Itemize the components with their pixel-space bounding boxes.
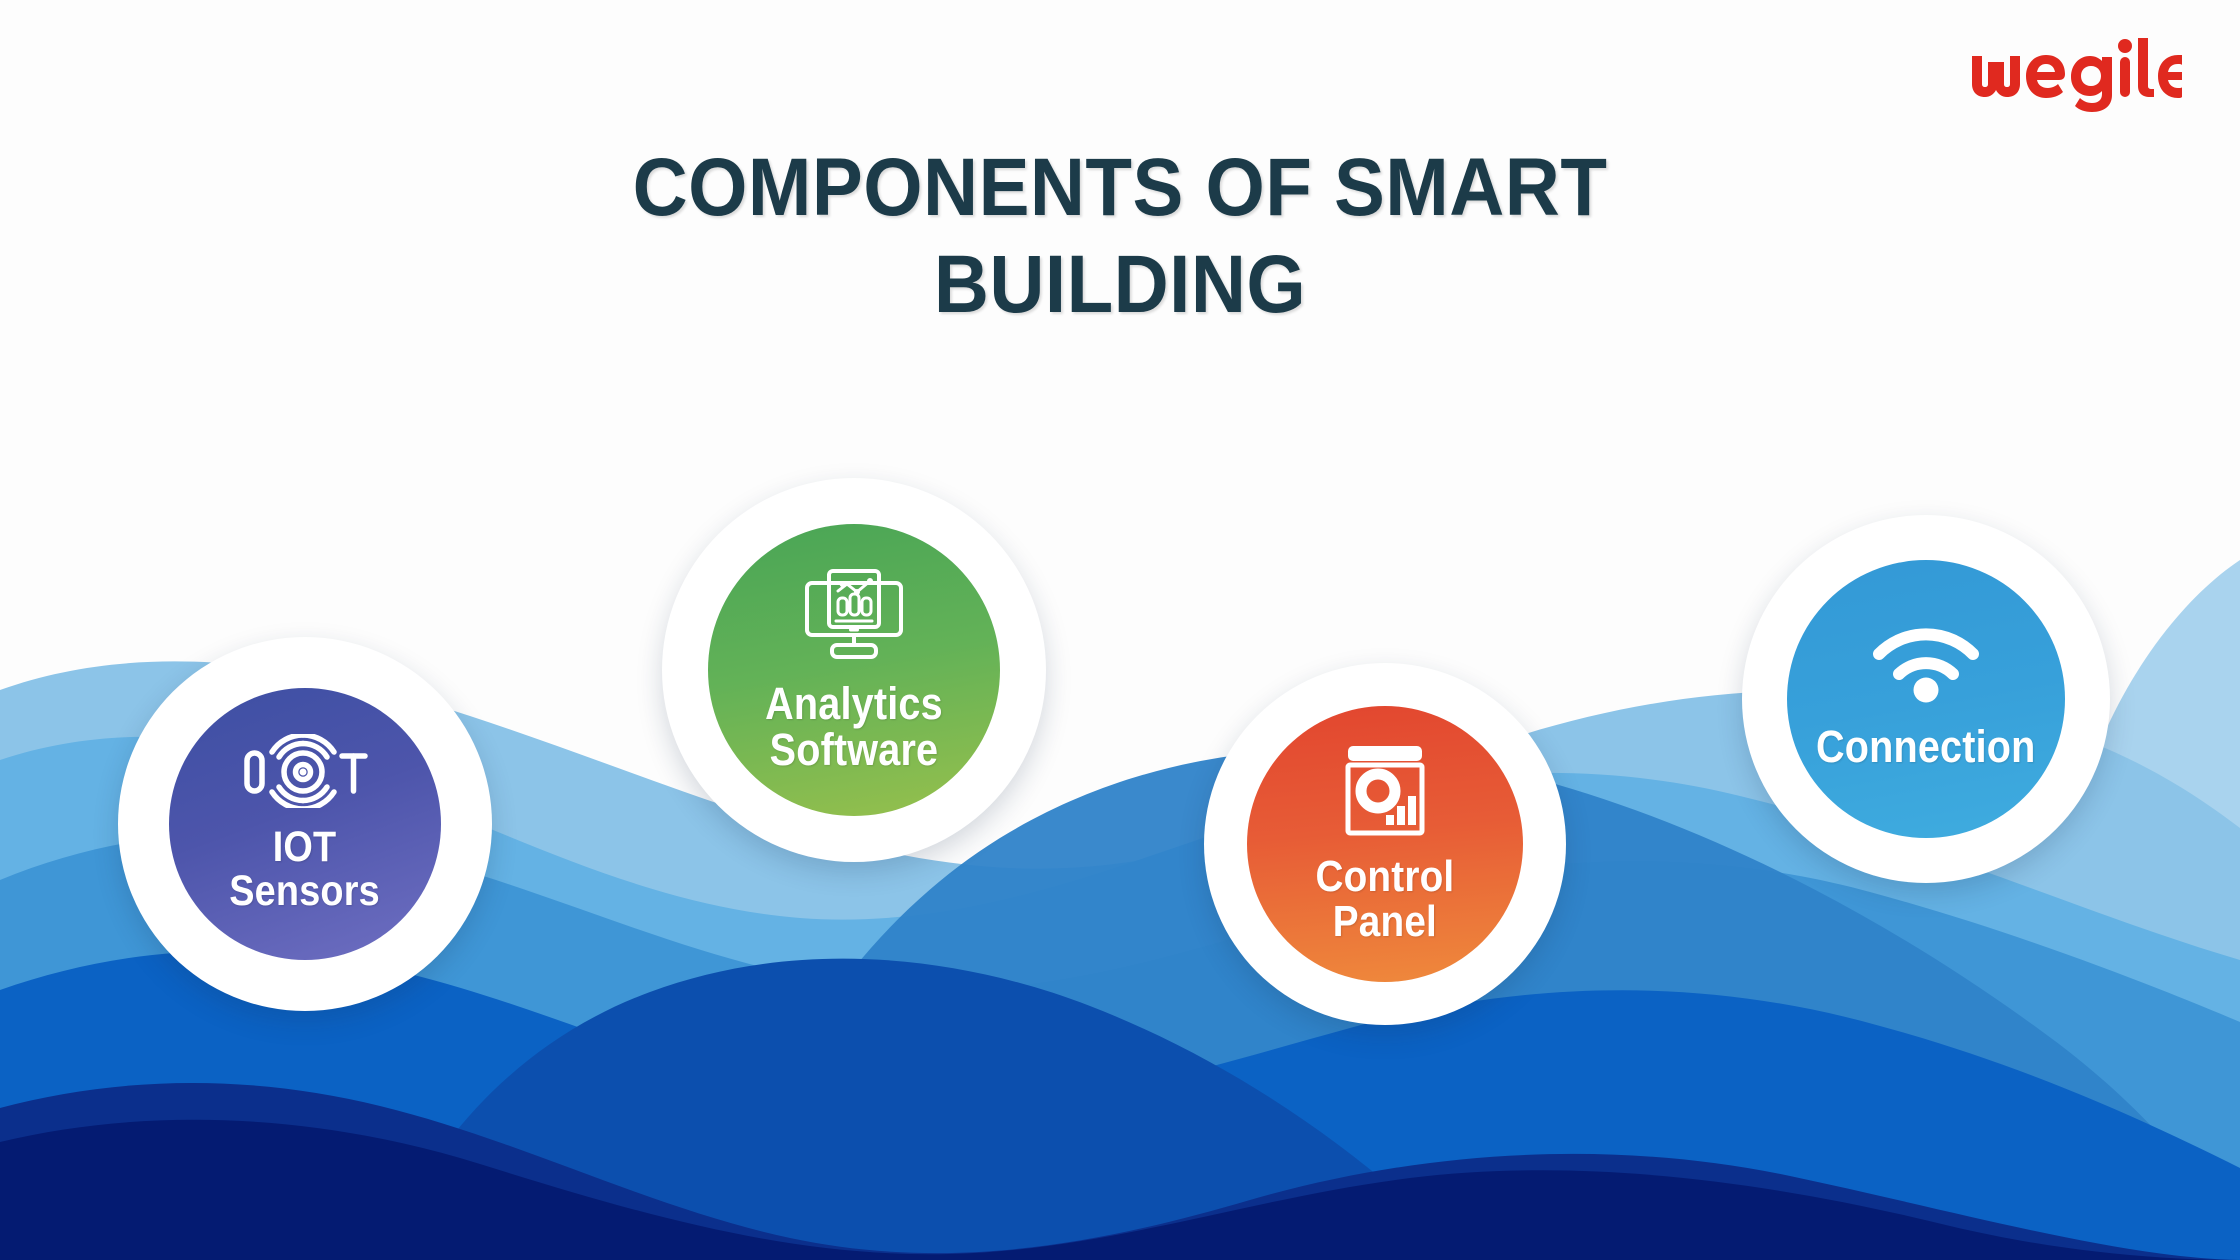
page-title-line-2: BUILDING bbox=[934, 239, 1306, 330]
component-node-analytics-software[interactable]: Analytics Software bbox=[662, 478, 1046, 862]
page-title-line-1: COMPONENTS OF SMART bbox=[633, 142, 1608, 233]
component-node-connection[interactable]: Connection bbox=[1742, 515, 2110, 883]
node-inner-iot: IOT Sensors bbox=[169, 688, 441, 960]
node-label-analytics-software: Analytics Software bbox=[765, 681, 943, 773]
dashboard-panel-icon bbox=[1342, 743, 1428, 837]
wifi-icon bbox=[1871, 628, 1981, 704]
iot-sensor-icon bbox=[241, 734, 369, 808]
node-inner-control: Control Panel bbox=[1247, 706, 1523, 982]
node-label-control-panel: Control Panel bbox=[1316, 855, 1455, 945]
node-label-connection: Connection bbox=[1816, 724, 2036, 770]
node-label-iot-sensors: IOT Sensors bbox=[230, 826, 381, 914]
infographic-canvas: COMPONENTS OF SMART BUILDING bbox=[0, 0, 2240, 1260]
logo-i-dot bbox=[2118, 39, 2132, 53]
component-node-iot-sensors[interactable]: IOT Sensors bbox=[118, 637, 492, 1011]
logo-wordmark bbox=[1972, 38, 2182, 112]
wegile-logo[interactable] bbox=[1964, 38, 2182, 112]
component-node-control-panel[interactable]: Control Panel bbox=[1204, 663, 1566, 1025]
monitor-analytics-icon bbox=[802, 567, 906, 665]
node-inner-connection: Connection bbox=[1787, 560, 2065, 838]
node-inner-analytics: Analytics Software bbox=[708, 524, 1000, 816]
page-title: COMPONENTS OF SMART BUILDING bbox=[78, 140, 2161, 334]
